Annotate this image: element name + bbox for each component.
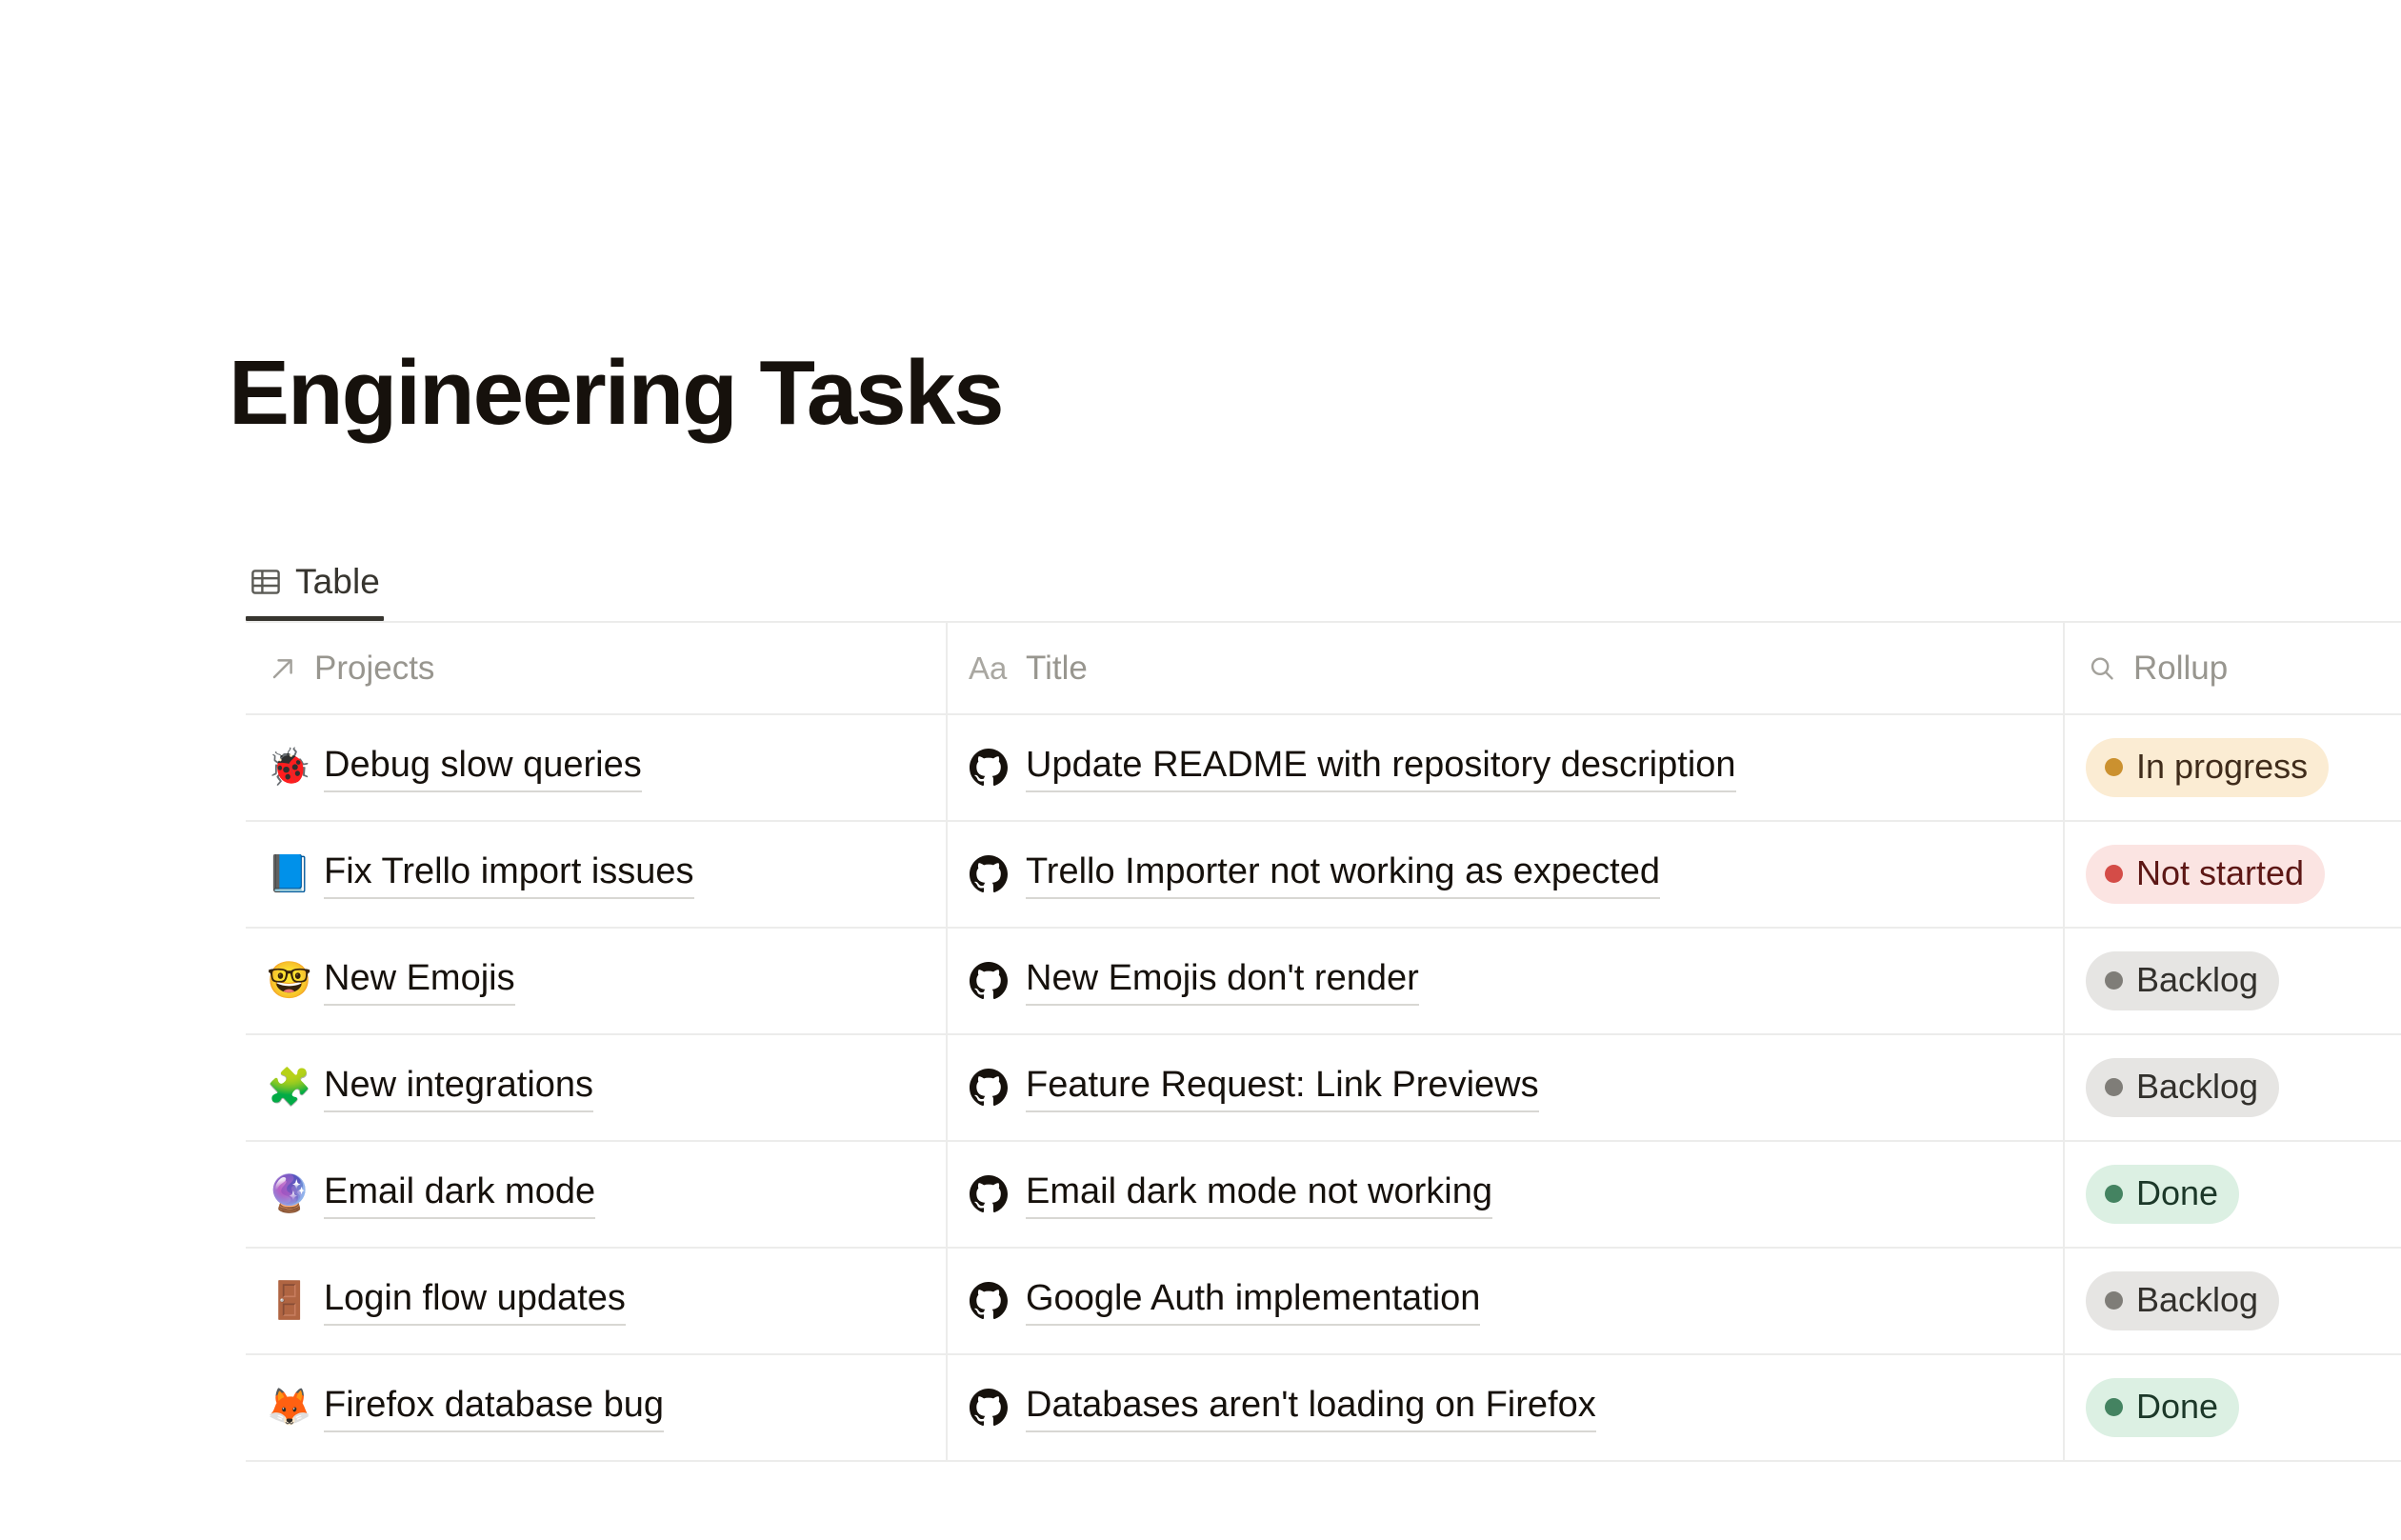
status-dot xyxy=(2105,971,2123,990)
status-dot xyxy=(2105,758,2123,776)
status-badge: Not started xyxy=(2086,845,2325,903)
cell-title[interactable]: Trello Importer not working as expected xyxy=(948,822,2065,927)
status-badge: Done xyxy=(2086,1378,2239,1436)
issue-title: Update README with repository descriptio… xyxy=(1026,743,1736,793)
table-row: 🧩 New integrations Feature Request: Link… xyxy=(246,1035,2401,1142)
puzzle-piece-emoji: 🧩 xyxy=(267,1070,307,1106)
page-root: Engineering Tasks Table xyxy=(0,0,2401,1540)
cell-rollup[interactable]: Backlog xyxy=(2065,1035,2401,1140)
table-icon xyxy=(250,566,282,598)
status-dot xyxy=(2105,1185,2123,1203)
project-relation-link[interactable]: 🔮 Email dark mode xyxy=(267,1170,595,1220)
magnifier-icon xyxy=(2086,652,2118,685)
cell-projects[interactable]: 🔮 Email dark mode xyxy=(246,1142,948,1247)
status-dot xyxy=(2105,1078,2123,1096)
github-icon xyxy=(969,854,1009,894)
status-label: Done xyxy=(2136,1172,2218,1213)
issue-link[interactable]: New Emojis don't render xyxy=(969,956,1419,1007)
relation-arrow-icon xyxy=(267,652,299,685)
status-badge: Done xyxy=(2086,1165,2239,1223)
column-header-rollup[interactable]: Rollup xyxy=(2065,623,2401,713)
issue-title: Feature Request: Link Previews xyxy=(1026,1063,1539,1113)
project-relation-link[interactable]: 🦊 Firefox database bug xyxy=(267,1383,664,1433)
column-header-title[interactable]: Aa Title xyxy=(948,623,2065,713)
table-row: 🦊 Firefox database bug Databases aren't … xyxy=(246,1355,2401,1462)
status-label: Done xyxy=(2136,1386,2218,1427)
table-row: 🤓 New Emojis New Emojis don't render Bac… xyxy=(246,929,2401,1035)
issue-link[interactable]: Feature Request: Link Previews xyxy=(969,1063,1539,1113)
github-icon xyxy=(969,748,1009,788)
issue-title: Google Auth implementation xyxy=(1026,1276,1480,1327)
project-relation-link[interactable]: 🧩 New integrations xyxy=(267,1063,593,1113)
cell-rollup[interactable]: Backlog xyxy=(2065,1249,2401,1353)
tab-table-label: Table xyxy=(295,562,380,602)
cell-title[interactable]: Google Auth implementation xyxy=(948,1249,2065,1353)
door-emoji: 🚪 xyxy=(267,1283,307,1319)
status-badge: In progress xyxy=(2086,738,2329,796)
project-relation-link[interactable]: 🚪 Login flow updates xyxy=(267,1276,626,1327)
status-badge: Backlog xyxy=(2086,1058,2279,1116)
project-relation-link[interactable]: 📘 Fix Trello import issues xyxy=(267,850,694,900)
project-name: Email dark mode xyxy=(324,1170,595,1220)
cell-title[interactable]: Databases aren't loading on Firefox xyxy=(948,1355,2065,1460)
cell-projects[interactable]: 🤓 New Emojis xyxy=(246,929,948,1033)
view-tab-bar: Table xyxy=(246,526,390,621)
cell-rollup[interactable]: In progress xyxy=(2065,715,2401,820)
column-header-projects[interactable]: Projects xyxy=(246,623,948,713)
cell-title[interactable]: Email dark mode not working xyxy=(948,1142,2065,1247)
table-body: 🐞 Debug slow queries Update README with … xyxy=(246,715,2401,1462)
blue-book-emoji: 📘 xyxy=(267,856,307,892)
table-row: 🚪 Login flow updates Google Auth impleme… xyxy=(246,1249,2401,1355)
cell-projects[interactable]: 📘 Fix Trello import issues xyxy=(246,822,948,927)
lady-beetle-emoji: 🐞 xyxy=(267,750,307,786)
page-title: Engineering Tasks xyxy=(229,342,1002,445)
cell-title[interactable]: New Emojis don't render xyxy=(948,929,2065,1033)
crystal-ball-emoji: 🔮 xyxy=(267,1176,307,1212)
status-dot xyxy=(2105,865,2123,883)
issue-link[interactable]: Databases aren't loading on Firefox xyxy=(969,1383,1596,1433)
project-relation-link[interactable]: 🐞 Debug slow queries xyxy=(267,743,642,793)
cell-projects[interactable]: 🦊 Firefox database bug xyxy=(246,1355,948,1460)
column-header-title-label: Title xyxy=(1026,650,1088,688)
cell-projects[interactable]: 🧩 New integrations xyxy=(246,1035,948,1140)
column-header-rollup-label: Rollup xyxy=(2133,650,2228,688)
status-label: Not started xyxy=(2136,852,2304,893)
github-icon xyxy=(969,1068,1009,1108)
status-badge: Backlog xyxy=(2086,951,2279,1010)
status-dot xyxy=(2105,1291,2123,1310)
table-row: 🔮 Email dark mode Email dark mode not wo… xyxy=(246,1142,2401,1249)
issue-title: Databases aren't loading on Firefox xyxy=(1026,1383,1596,1433)
tab-table[interactable]: Table xyxy=(246,562,390,621)
project-name: Login flow updates xyxy=(324,1276,626,1327)
database-table: Projects Aa Title Rollup 🐞 Deb xyxy=(246,621,2401,1462)
table-header-row: Projects Aa Title Rollup xyxy=(246,623,2401,715)
github-icon xyxy=(969,1388,1009,1428)
issue-link[interactable]: Google Auth implementation xyxy=(969,1276,1480,1327)
status-label: In progress xyxy=(2136,746,2308,787)
project-name: New Emojis xyxy=(324,956,515,1007)
status-label: Backlog xyxy=(2136,959,2258,1000)
issue-title: New Emojis don't render xyxy=(1026,956,1419,1007)
issue-link[interactable]: Update README with repository descriptio… xyxy=(969,743,1736,793)
table-row: 🐞 Debug slow queries Update README with … xyxy=(246,715,2401,822)
status-label: Backlog xyxy=(2136,1066,2258,1107)
project-name: Fix Trello import issues xyxy=(324,850,694,900)
table-row: 📘 Fix Trello import issues Trello Import… xyxy=(246,822,2401,929)
project-name: Firefox database bug xyxy=(324,1383,664,1433)
project-relation-link[interactable]: 🤓 New Emojis xyxy=(267,956,515,1007)
issue-link[interactable]: Email dark mode not working xyxy=(969,1170,1492,1220)
cell-title[interactable]: Feature Request: Link Previews xyxy=(948,1035,2065,1140)
issue-title: Trello Importer not working as expected xyxy=(1026,850,1660,900)
issue-title: Email dark mode not working xyxy=(1026,1170,1492,1220)
cell-rollup[interactable]: Not started xyxy=(2065,822,2401,927)
github-icon xyxy=(969,961,1009,1001)
github-icon xyxy=(969,1174,1009,1214)
title-aa-icon: Aa xyxy=(969,650,1010,687)
github-icon xyxy=(969,1281,1009,1321)
cell-rollup[interactable]: Done xyxy=(2065,1142,2401,1247)
status-badge: Backlog xyxy=(2086,1271,2279,1330)
status-label: Backlog xyxy=(2136,1279,2258,1320)
cell-rollup[interactable]: Backlog xyxy=(2065,929,2401,1033)
fox-emoji: 🦊 xyxy=(267,1390,307,1426)
cell-projects[interactable]: 🐞 Debug slow queries xyxy=(246,715,948,820)
cell-projects[interactable]: 🚪 Login flow updates xyxy=(246,1249,948,1353)
cell-rollup[interactable]: Done xyxy=(2065,1355,2401,1460)
project-name: Debug slow queries xyxy=(324,743,642,793)
project-name: New integrations xyxy=(324,1063,593,1113)
column-header-projects-label: Projects xyxy=(314,650,434,688)
nerd-face-emoji: 🤓 xyxy=(267,963,307,999)
cell-title[interactable]: Update README with repository descriptio… xyxy=(948,715,2065,820)
status-dot xyxy=(2105,1398,2123,1416)
issue-link[interactable]: Trello Importer not working as expected xyxy=(969,850,1660,900)
